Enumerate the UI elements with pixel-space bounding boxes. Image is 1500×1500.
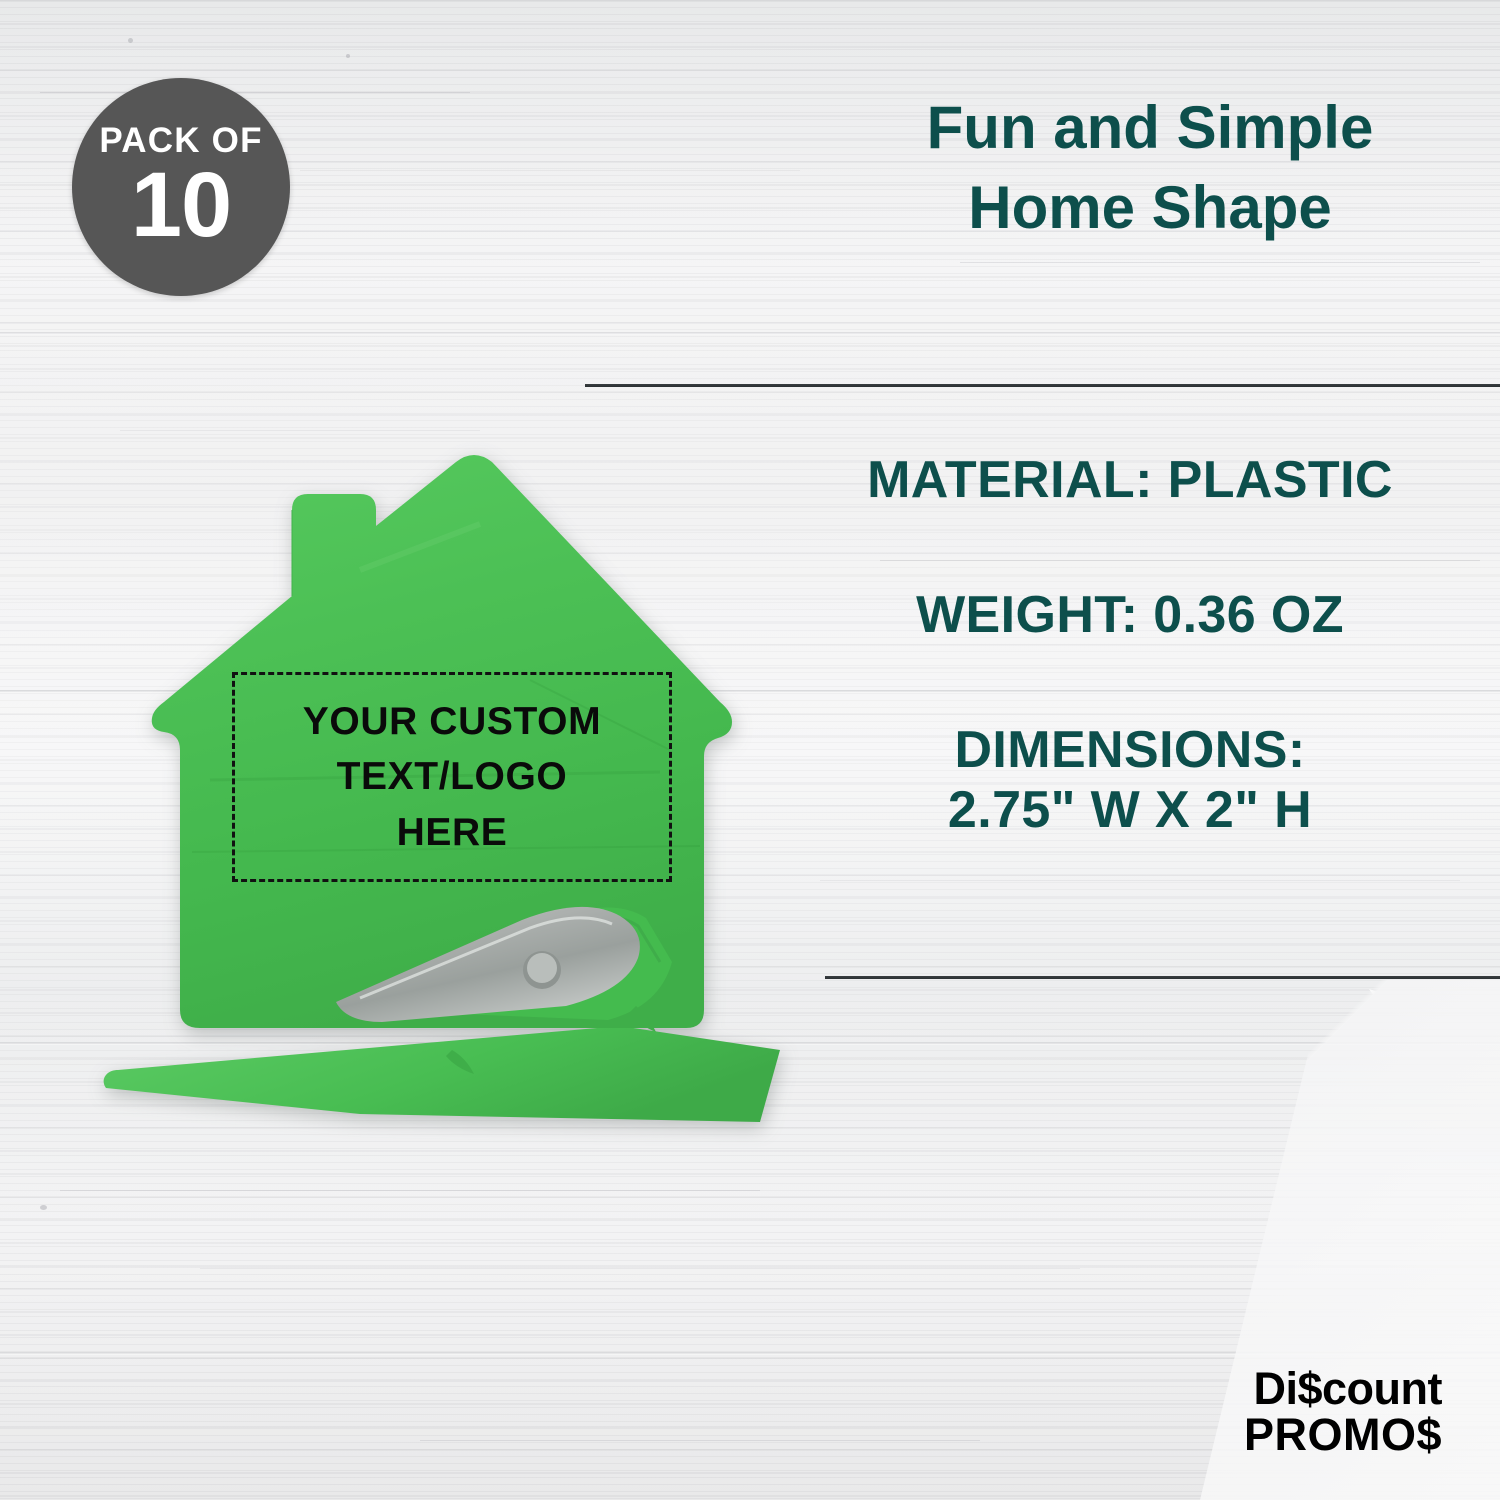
imprint-line-1: YOUR CUSTOM <box>303 694 601 749</box>
headline-line-1: Fun and Simple <box>800 88 1500 168</box>
imprint-line-3: HERE <box>397 805 508 860</box>
wood-speck <box>128 38 133 43</box>
spec-list: MATERIAL: PLASTIC WEIGHT: 0.36 OZ DIMENS… <box>760 450 1500 841</box>
blade-hole-inner <box>527 953 557 983</box>
spec-dimensions-line-1: DIMENSIONS: <box>954 721 1305 779</box>
spec-material-line-1: MATERIAL: PLASTIC <box>867 451 1393 509</box>
pack-quantity: 10 <box>131 160 231 250</box>
wood-grain <box>60 1190 760 1191</box>
wood-speck <box>346 54 350 58</box>
brand-logo: Di$count PROMO$ <box>1244 1366 1442 1458</box>
wood-grain <box>300 170 800 171</box>
wood-speck <box>40 1205 47 1210</box>
opener-tail <box>104 1026 780 1122</box>
spec-dimensions-line-2: 2.75" W X 2" H <box>760 780 1500 841</box>
spec-dimensions: DIMENSIONS: 2.75" W X 2" H <box>760 720 1500 842</box>
logo-line-1: Di$count <box>1244 1366 1442 1412</box>
page-title: Fun and Simple Home Shape <box>800 88 1500 248</box>
imprint-area: YOUR CUSTOM TEXT/LOGO HERE <box>232 672 672 882</box>
spec-material: MATERIAL: PLASTIC <box>760 450 1500 511</box>
spec-weight: WEIGHT: 0.36 OZ <box>760 585 1500 646</box>
wood-grain <box>120 430 480 431</box>
pack-label: PACK OF <box>99 123 262 158</box>
divider-top <box>585 384 1500 387</box>
divider-bottom <box>825 976 1500 979</box>
product-info-card: PACK OF 10 Fun and Simple Home Shape MAT… <box>0 0 1500 1500</box>
spec-weight-line-1: WEIGHT: 0.36 OZ <box>916 586 1344 644</box>
wood-grain <box>40 92 470 93</box>
logo-line-2: PROMO$ <box>1244 1412 1442 1458</box>
imprint-line-2: TEXT/LOGO <box>337 749 568 804</box>
pack-quantity-badge: PACK OF 10 <box>72 78 290 296</box>
headline-line-2: Home Shape <box>800 168 1500 248</box>
